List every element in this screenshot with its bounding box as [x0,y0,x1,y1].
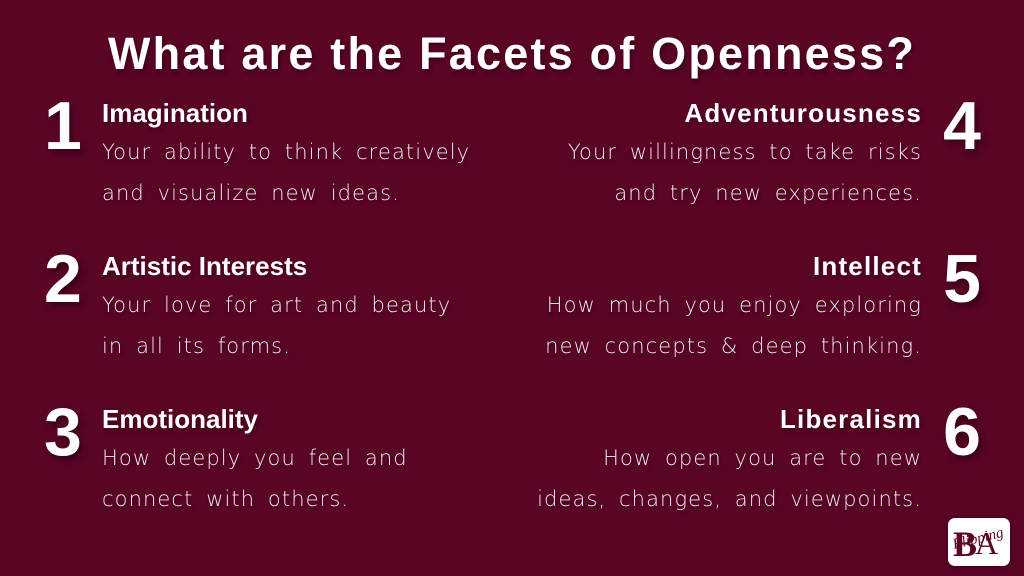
facet-item-1: 1 Imagination Your ability to think crea… [44,98,512,251]
facet-description-line: and try new experiences. [512,173,922,214]
facet-description-line: How deeply you feel and [102,438,512,479]
facet-body-1: Imagination Your ability to think creati… [102,98,512,214]
slide-canvas: What are the Facets of Openness? 1 Imagi… [0,0,1024,576]
facet-description-6: How open you are to new ideas, changes, … [512,438,922,520]
facet-description-line: Your love for art and beauty [102,285,512,326]
facet-title-4: Adventurousness [512,98,922,128]
facet-description-line: How much you enjoy exploring [512,285,922,326]
facet-item-6: 6 Liberalism How open you are to new ide… [512,404,980,557]
facet-number-1: 1 [44,92,81,160]
facets-column-right: 4 Adventurousness Your willingness to ta… [512,98,1024,558]
facet-body-2: Artistic Interests Your love for art and… [102,251,512,367]
facet-number-6: 6 [943,398,980,466]
facet-title-3: Emotionality [102,404,512,434]
facet-description-line: How open you are to new [512,438,922,479]
facet-description-line: ideas, changes, and viewpoints. [512,479,922,520]
facet-description-line: Your ability to think creatively [102,132,512,173]
facet-title-6: Liberalism [512,404,922,434]
facet-description-line: and visualize new ideas. [102,173,512,214]
facet-description-line: Your willingness to take risks [512,132,922,173]
facets-grid: 1 Imagination Your ability to think crea… [0,98,1024,558]
facet-number-5: 5 [943,245,980,313]
facet-body-4: Adventurousness Your willingness to take… [512,98,922,214]
facet-description-3: How deeply you feel and connect with oth… [102,438,512,520]
facet-number-3: 3 [44,398,81,466]
facet-item-4: 4 Adventurousness Your willingness to ta… [512,98,980,251]
facet-body-6: Liberalism How open you are to new ideas… [512,404,922,520]
facet-title-1: Imagination [102,98,512,128]
facet-item-2: 2 Artistic Interests Your love for art a… [44,251,512,404]
brand-logo: B A Flipping [948,518,1010,566]
brand-logo-mark: B A Flipping [948,518,1010,566]
facet-description-line: connect with others. [102,479,512,520]
facet-number-4: 4 [943,92,980,160]
facet-description-2: Your love for art and beauty in all its … [102,285,512,367]
facet-title-2: Artistic Interests [102,251,512,281]
facet-title-5: Intellect [512,251,922,281]
facet-description-5: How much you enjoy exploring new concept… [512,285,922,367]
page-title: What are the Facets of Openness? [0,28,1024,80]
facets-column-left: 1 Imagination Your ability to think crea… [0,98,512,558]
facet-body-5: Intellect How much you enjoy exploring n… [512,251,922,367]
facet-description-line: in all its forms. [102,326,512,367]
facet-description-4: Your willingness to take risks and try n… [512,132,922,214]
facet-description-line: new concepts & deep thinking. [512,326,922,367]
facet-item-5: 5 Intellect How much you enjoy exploring… [512,251,980,404]
facet-description-1: Your ability to think creatively and vis… [102,132,512,214]
facet-number-2: 2 [44,245,81,313]
facet-item-3: 3 Emotionality How deeply you feel and c… [44,404,512,557]
facet-body-3: Emotionality How deeply you feel and con… [102,404,512,520]
